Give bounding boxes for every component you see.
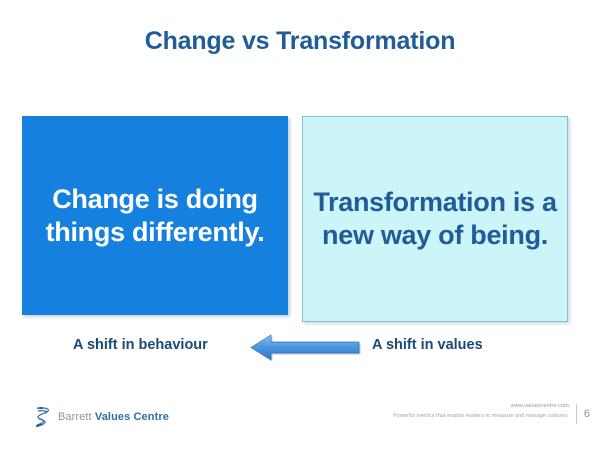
footer-divider <box>576 404 577 424</box>
caption-shift-in-values: A shift in values <box>372 334 483 356</box>
panel-change: Change is doing things differently. <box>22 116 288 315</box>
barrett-values-centre-logo: Barrett Values Centre <box>33 405 169 429</box>
caption-shift-in-behaviour: A shift in behaviour <box>73 334 208 356</box>
footer-website-url[interactable]: www.valuescentre.com <box>393 402 569 411</box>
arrow-left-icon <box>250 332 362 362</box>
panel-transformation-text: Transformation is a new way of being. <box>313 186 557 252</box>
logo-wordmark: Barrett Values Centre <box>58 411 169 424</box>
footer-tagline: Powerful metrics that enable leaders to … <box>393 411 569 421</box>
slide-footer: Barrett Values Centre www.valuescentre.c… <box>0 396 600 450</box>
panel-transformation: Transformation is a new way of being. <box>302 116 568 322</box>
arrow-band: A shift in behaviour A shift in values <box>0 332 600 364</box>
page-number: 6 <box>584 404 590 424</box>
page-title: Change vs Transformation <box>0 26 600 56</box>
logo-wordmark-part1: Barrett <box>58 411 95 423</box>
panel-change-text: Change is doing things differently. <box>32 183 278 249</box>
barrett-spiral-logo-icon <box>33 405 53 429</box>
footer-right-block: www.valuescentre.com Powerful metrics th… <box>393 402 590 424</box>
logo-wordmark-part2: Values Centre <box>95 411 169 423</box>
footer-text-column: www.valuescentre.com Powerful metrics th… <box>393 402 569 421</box>
